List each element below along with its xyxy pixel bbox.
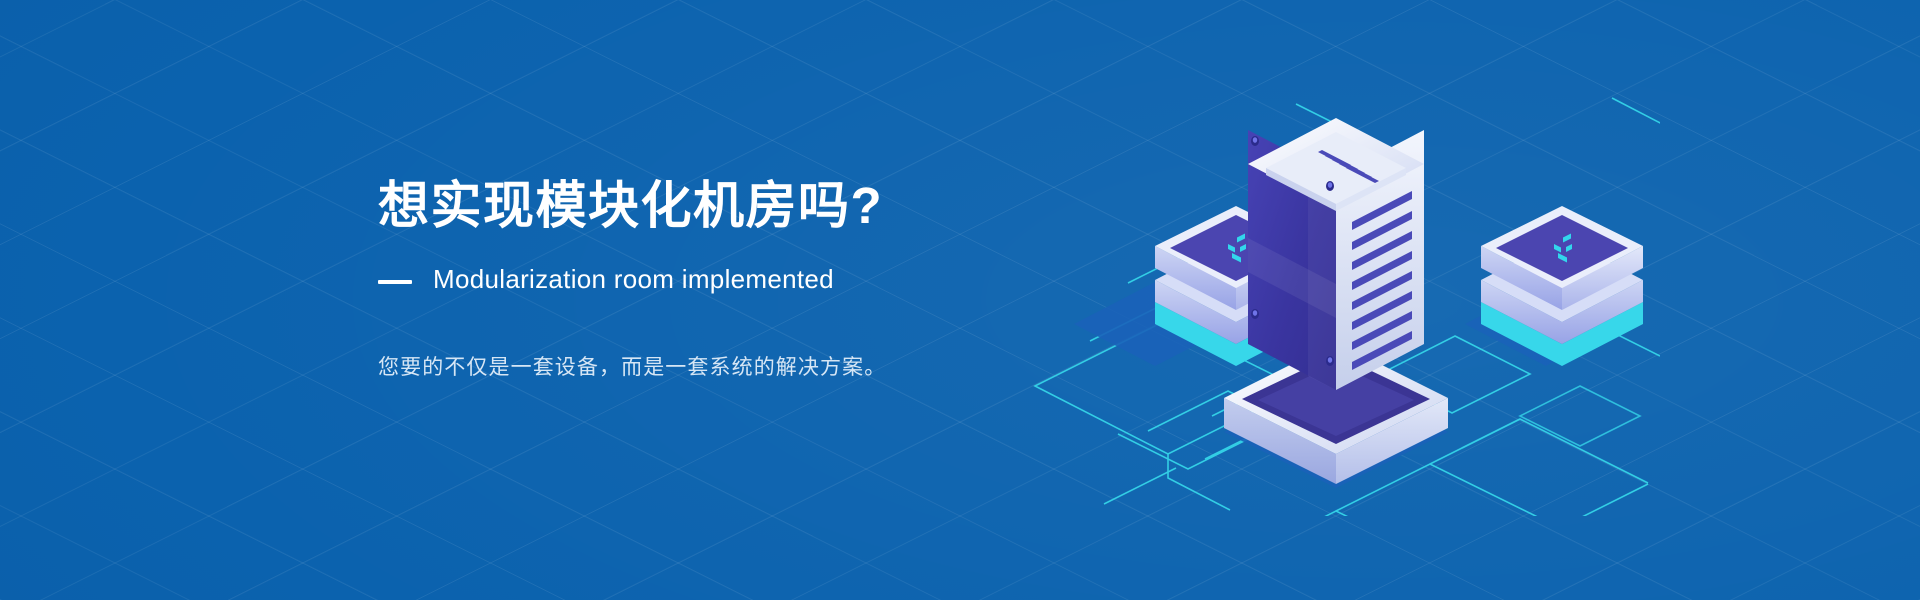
server-tower (1248, 118, 1424, 390)
dash-rule-icon (378, 280, 412, 284)
hero-banner: 想实现模块化机房吗? Modularization room implement… (0, 0, 1920, 600)
hero-illustration (1000, 86, 1660, 516)
page-subtitle: Modularization room implemented (433, 264, 834, 295)
